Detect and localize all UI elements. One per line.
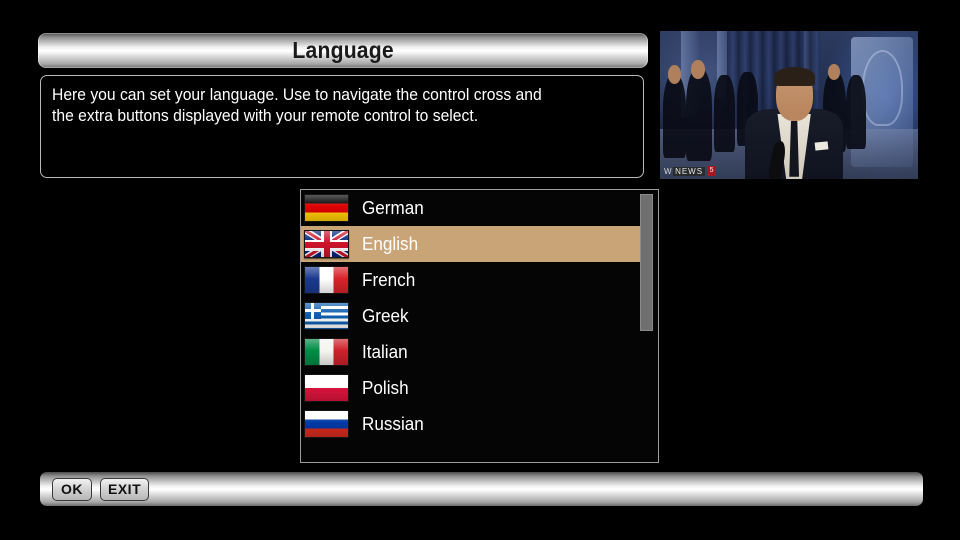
ok-button[interactable]: OK	[52, 478, 92, 501]
channel-logo-left: W	[664, 167, 671, 176]
language-list[interactable]: GermanEnglishFrenchGreekItalianPolishRus…	[301, 190, 642, 462]
list-scrollbar-track[interactable]	[640, 194, 653, 460]
flag-icon	[304, 266, 349, 294]
video-crowd-person	[663, 75, 686, 158]
bottom-key-bar: OK EXIT	[40, 472, 923, 506]
language-list-item-label: Polish	[362, 378, 409, 399]
language-list-item[interactable]: Greek	[301, 298, 642, 334]
video-crowd-head	[668, 65, 681, 83]
list-scrollbar-thumb[interactable]	[640, 194, 653, 331]
flag-icon	[304, 230, 349, 258]
language-list-item-label: Italian	[362, 342, 408, 363]
reporter-hair	[774, 67, 815, 86]
channel-logo: W NEWS 5	[664, 166, 716, 176]
language-list-item[interactable]: Italian	[301, 334, 642, 370]
language-list-item[interactable]: Russian	[301, 406, 642, 442]
osd-screen: Language Here you can set your language.…	[0, 0, 960, 540]
channel-logo-mid: NEWS	[673, 167, 705, 176]
flag-gloss	[305, 375, 348, 401]
video-crowd-person	[846, 75, 867, 149]
language-list-item[interactable]: Polish	[301, 370, 642, 406]
language-list-item-label: English	[362, 234, 418, 255]
video-reporter	[745, 67, 843, 179]
exit-button[interactable]: EXIT	[100, 478, 149, 501]
language-list-item[interactable]: French	[301, 262, 642, 298]
title-bar: Language	[38, 33, 648, 68]
language-list-item[interactable]: English	[301, 226, 642, 262]
flag-gloss	[305, 339, 348, 365]
video-crowd-person	[714, 75, 735, 152]
reporter-pocket-square	[814, 141, 827, 150]
language-list-item-label: French	[362, 270, 415, 291]
flag-gloss	[305, 267, 348, 293]
language-list-item-label: Russian	[362, 414, 424, 435]
language-list-item-label: German	[362, 198, 424, 219]
description-text: Here you can set your language. Use to n…	[52, 85, 602, 127]
flag-gloss	[305, 411, 348, 437]
language-list-item[interactable]: German	[301, 190, 642, 226]
flag-icon	[304, 374, 349, 402]
channel-logo-right: 5	[707, 166, 716, 176]
video-preview[interactable]: W NEWS 5	[660, 31, 918, 179]
video-crowd-person	[686, 69, 712, 161]
description-box: Here you can set your language. Use to n…	[40, 75, 644, 178]
flag-icon	[304, 194, 349, 222]
flag-icon	[304, 410, 349, 438]
language-list-item-label: Greek	[362, 306, 409, 327]
page-title: Language	[292, 37, 393, 64]
language-list-panel[interactable]: GermanEnglishFrenchGreekItalianPolishRus…	[300, 189, 659, 463]
flag-icon	[304, 338, 349, 366]
video-crowd-head	[691, 60, 705, 78]
flag-gloss	[305, 195, 348, 221]
flag-icon	[304, 302, 349, 330]
